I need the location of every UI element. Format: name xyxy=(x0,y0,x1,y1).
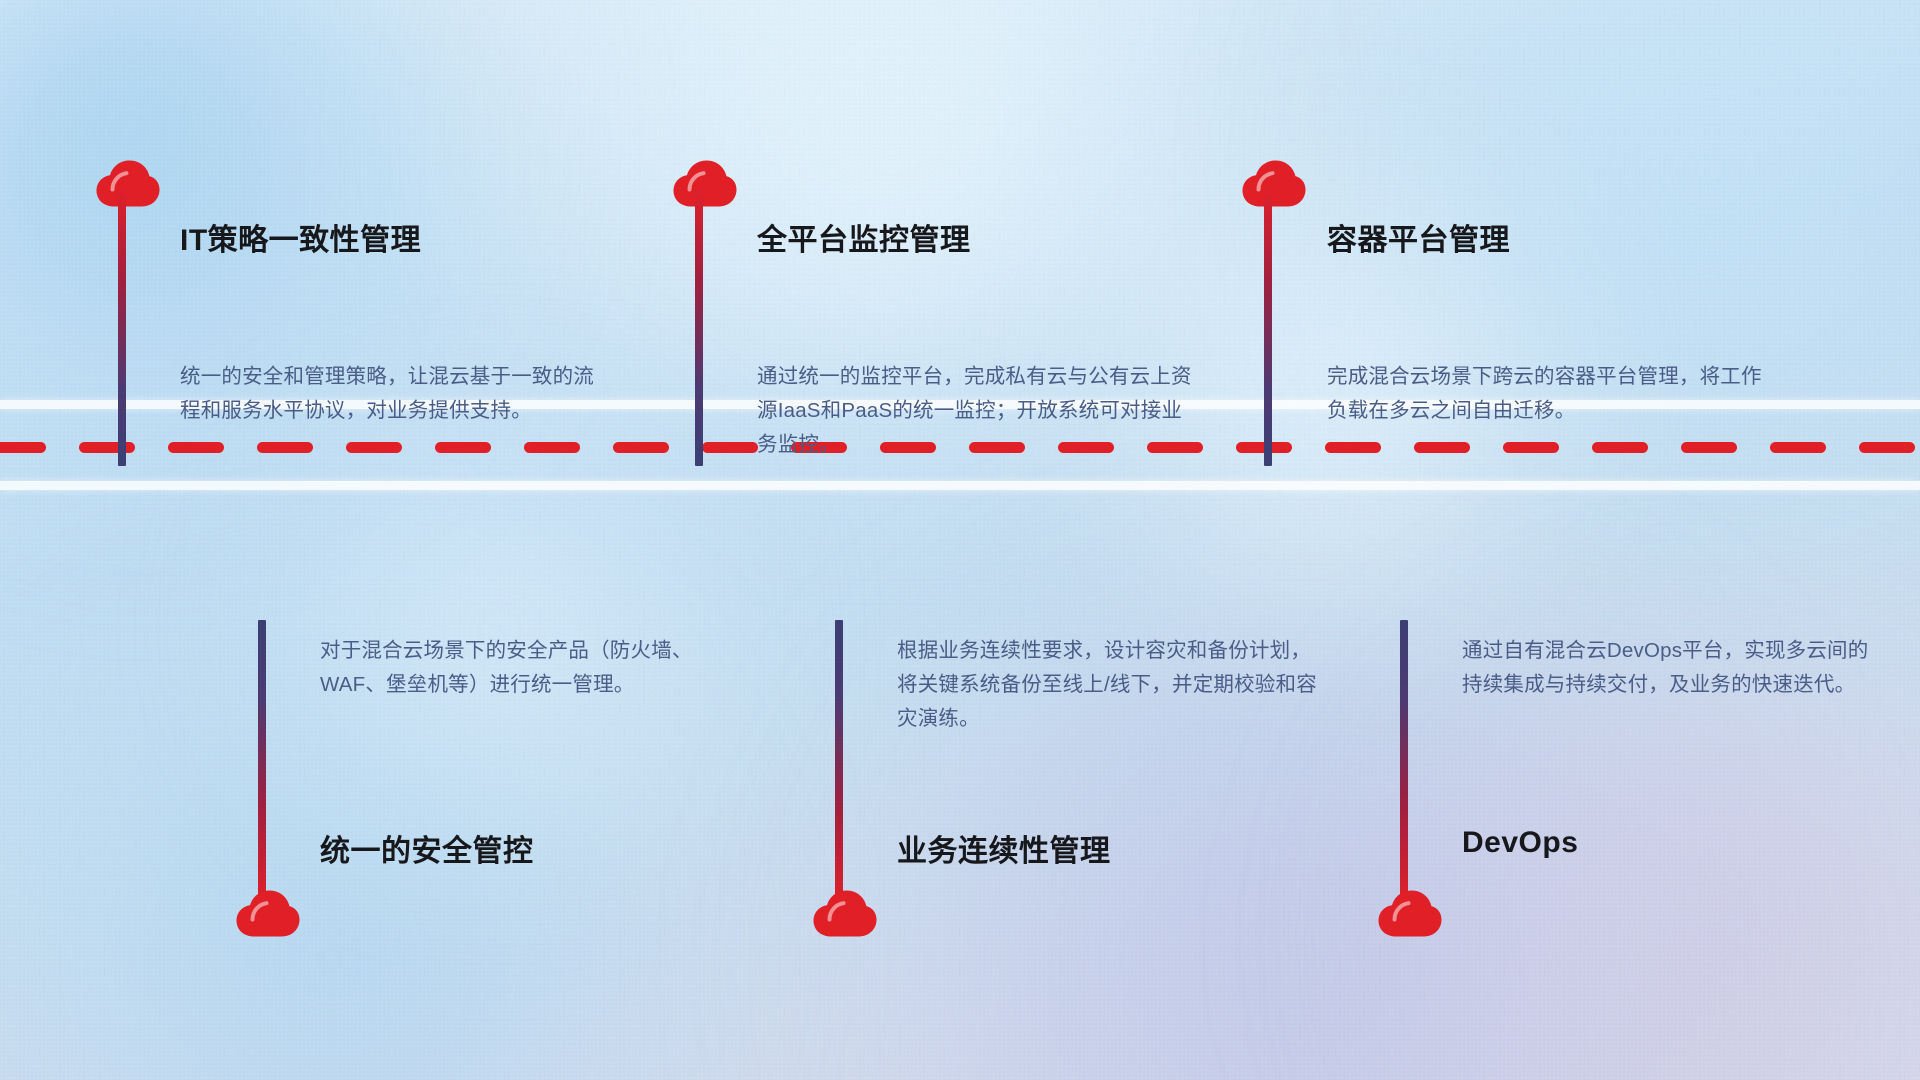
bottom-column-description: 对于混合云场景下的安全产品（防火墙、WAF、堡垒机等）进行统一管理。 xyxy=(320,634,740,702)
cloud-pin-icon xyxy=(673,160,737,207)
road-dash xyxy=(1325,442,1381,453)
road-dash xyxy=(435,442,491,453)
road-dash xyxy=(524,442,580,453)
cloud-pin-icon xyxy=(1378,890,1442,937)
road-dash xyxy=(257,442,313,453)
column-stem xyxy=(835,620,843,902)
road-dash xyxy=(0,442,46,453)
top-column-description: 通过统一的监控平台，完成私有云与公有云上资源IaaS和PaaS的统一监控；开放系… xyxy=(757,360,1197,462)
road-dash xyxy=(613,442,669,453)
road-dash xyxy=(1503,442,1559,453)
column-stem xyxy=(118,188,126,466)
bottom-column-title: 业务连续性管理 xyxy=(897,826,1111,870)
road-line-bottom xyxy=(0,481,1920,490)
cloud-pin-icon xyxy=(236,890,300,937)
road-dash xyxy=(1681,442,1737,453)
road-dash xyxy=(1859,442,1915,453)
road-dash xyxy=(1592,442,1648,453)
top-column-title: 全平台监控管理 xyxy=(757,215,971,259)
column-stem xyxy=(258,620,266,902)
cloud-pin-icon xyxy=(1242,160,1306,207)
top-column-description: 完成混合云场景下跨云的容器平台管理，将工作负载在多云之间自由迁移。 xyxy=(1327,360,1767,428)
road-dash xyxy=(1770,442,1826,453)
column-stem xyxy=(695,188,703,466)
bottom-column-description: 根据业务连续性要求，设计容灾和备份计划，将关键系统备份至线上/线下，并定期校验和… xyxy=(897,634,1317,736)
cloud-pin-icon xyxy=(813,890,877,937)
road-dash xyxy=(1414,442,1470,453)
bottom-column-title: 统一的安全管控 xyxy=(320,826,534,870)
cloud-pin-icon xyxy=(96,160,160,207)
column-stem xyxy=(1400,620,1408,902)
road-dash xyxy=(702,442,758,453)
road-dash xyxy=(346,442,402,453)
top-column-description: 统一的安全和管理策略，让混云基于一致的流程和服务水平协议，对业务提供支持。 xyxy=(180,360,610,428)
road-dash xyxy=(168,442,224,453)
bottom-column-description: 通过自有混合云DevOps平台，实现多云间的持续集成与持续交付，及业务的快速迭代… xyxy=(1462,634,1882,702)
top-column-title: 容器平台管理 xyxy=(1327,215,1510,259)
top-column-title: IT策略一致性管理 xyxy=(180,215,421,259)
bottom-column-title: DevOps xyxy=(1462,826,1578,860)
column-stem xyxy=(1264,188,1272,466)
road-dash xyxy=(79,442,135,453)
